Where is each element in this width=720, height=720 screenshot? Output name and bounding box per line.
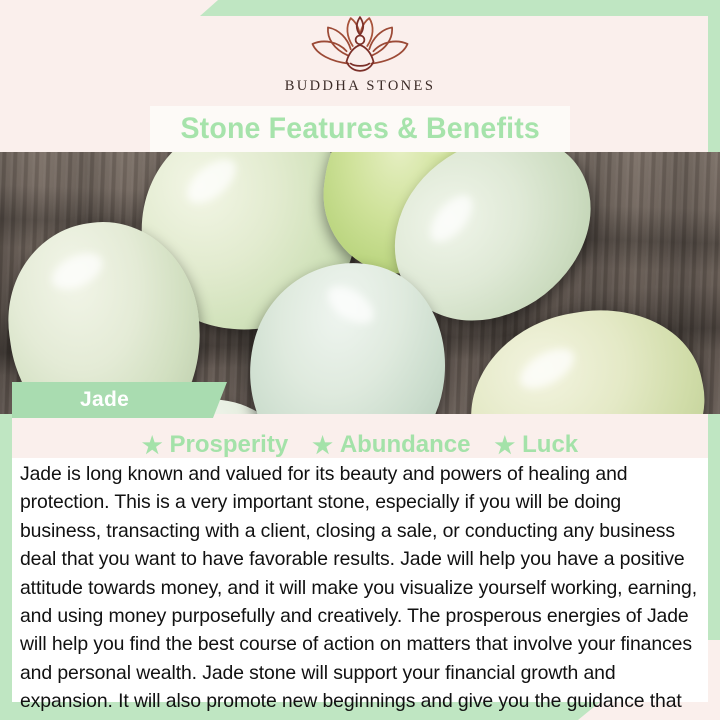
lotus-meditation-icon (308, 14, 412, 76)
benefit-label: Abundance (340, 431, 471, 459)
stone-name-label: Jade (80, 388, 129, 412)
benefit-label: Luck (522, 431, 578, 459)
benefit-item: ★ Luck (495, 431, 579, 459)
benefit-label: Prosperity (169, 431, 288, 459)
benefit-item: ★ Abundance (312, 431, 470, 459)
star-icon: ★ (142, 434, 163, 457)
star-icon: ★ (312, 434, 333, 457)
benefit-item: ★ Prosperity (142, 431, 288, 459)
benefits-row: ★ Prosperity ★ Abundance ★ Luck (0, 428, 720, 462)
brand-name: BUDDHA STONES (285, 78, 436, 95)
stone-info-card: BUDDHA STONES Stone Features & Benefits … (0, 0, 720, 720)
title-banner: Stone Features & Benefits (150, 106, 570, 152)
description-panel: Jade is long known and valued for its be… (12, 458, 708, 702)
stone-name-band: Jade (12, 382, 227, 418)
brand-header: BUDDHA STONES (0, 0, 720, 108)
jade-stones-photo (0, 152, 720, 414)
star-icon: ★ (495, 434, 516, 457)
description-text: Jade is long known and valued for its be… (20, 460, 700, 720)
page-title: Stone Features & Benefits (180, 112, 540, 146)
